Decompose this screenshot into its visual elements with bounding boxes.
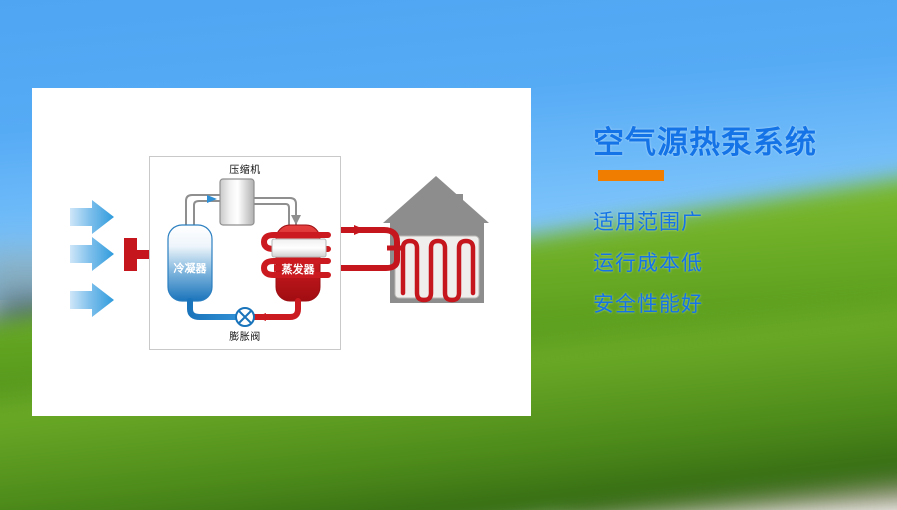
evaporator-label: 蒸发器	[282, 262, 316, 276]
flow-arrow-icon	[354, 225, 366, 235]
heat-exchanger-bar	[272, 239, 326, 257]
airflow-arrow-icon	[70, 200, 114, 234]
diagram-panel: 压缩机 膨胀阀	[32, 88, 531, 416]
refrigeration-cycle-box: 压缩机 膨胀阀	[149, 156, 341, 350]
airflow-arrow-icon	[70, 237, 114, 271]
condenser-label: 冷凝器	[174, 261, 208, 275]
flow-arrow-icon	[291, 215, 301, 225]
page-title: 空气源热泵系统	[593, 128, 817, 159]
liquid-line-hot	[254, 301, 298, 317]
feature-item-1: 运行成本低	[593, 247, 703, 277]
feature-item-0: 适用范围广	[593, 206, 703, 236]
compressor-component	[220, 179, 254, 225]
feature-item-2: 安全性能好	[593, 288, 703, 318]
condenser-component: 冷凝器	[168, 225, 212, 301]
house-roof	[383, 176, 489, 223]
evaporator-component: 蒸发器	[264, 225, 328, 301]
slide-canvas: 压缩机 膨胀阀	[0, 0, 897, 510]
airflow-arrow-icon	[70, 283, 114, 317]
airflow-arrow-group	[70, 200, 114, 317]
liquid-line-cold	[190, 301, 236, 317]
title-underline	[598, 170, 664, 181]
floor-heating-area	[395, 236, 479, 298]
cycle-schematic: 冷凝器 蒸发器	[150, 157, 340, 349]
expansion-valve-component	[236, 308, 254, 326]
